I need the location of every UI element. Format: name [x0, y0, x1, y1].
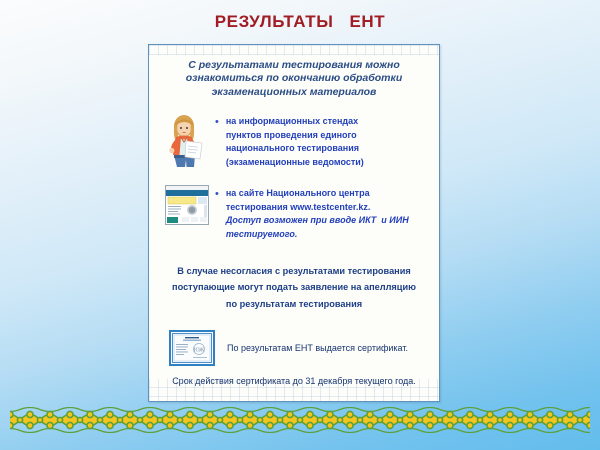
bullet-2-italic-line-2: тестируемого.: [226, 228, 409, 242]
bullet-item-website: • на сайте Национального центра тестиров…: [159, 183, 429, 241]
testcenter-website-thumbnail: [165, 185, 209, 225]
certificate-caption: По результатам ЕНТ выдается сертификат.: [227, 343, 408, 353]
page-title: РЕЗУЛЬТАТЫ ЕНТ: [0, 12, 600, 32]
bullet-1-line-2: пунктов проведения единого: [226, 129, 364, 143]
certificate-validity-text: Срок действия сертификата до 31 декабря …: [159, 376, 429, 386]
intro-line-1: С результатами тестирования можно: [188, 59, 400, 71]
bullet-2-body: на сайте Национального центра тестирован…: [226, 187, 409, 241]
bullet-1-text: • на информационных стендах пунктов пров…: [215, 111, 429, 169]
bullet-1-line-1: на информационных стендах: [226, 115, 364, 129]
svg-text:ЮЖ: ЮЖ: [193, 347, 205, 353]
bullet-2-italic-line-1: Доступ возможен при вводе ИКТ и ИИН: [226, 214, 409, 228]
intro-heading: С результатами тестирования можно ознако…: [159, 59, 429, 99]
bullet-2-line-1: на сайте Национального центра: [226, 187, 409, 201]
bullet-2-thumb-column: [159, 183, 215, 225]
bullet-1-line-4: (экзаменационные ведомости): [226, 156, 364, 170]
bullet-1-thumb-column: [159, 111, 215, 175]
bullet-marker-icon: •: [215, 187, 219, 241]
certificate-row: ЮЖ По результатам ЕНТ выдается сертифика…: [159, 330, 429, 366]
appeal-line-2: поступающие могут подать заявление на ап…: [165, 279, 423, 295]
intro-line-2: ознакомиться по окончанию обработки: [186, 72, 403, 84]
appeal-line-1: В случае несогласия с результатами тести…: [165, 263, 423, 279]
certificate-thumbnail: ЮЖ: [169, 330, 215, 366]
bullet-2-line-2: тестирования www.testcenter.kz.: [226, 201, 409, 215]
bullet-1-body: на информационных стендах пунктов провед…: [226, 115, 364, 169]
bullet-item-info-stands: • на информационных стендах пунктов пров…: [159, 111, 429, 175]
bullet-1-line-3: национального тестирования: [226, 142, 364, 156]
content-panel: С результатами тестирования можно ознако…: [148, 44, 440, 402]
kazakh-ornament-border: [0, 407, 600, 433]
appeal-line-3: по результатам тестирования: [165, 296, 423, 312]
appeal-paragraph: В случае несогласия с результатами тести…: [159, 263, 429, 311]
student-reading-illustration: [166, 113, 208, 175]
intro-line-3: экзаменационных материалов: [212, 86, 377, 98]
bullet-marker-icon: •: [215, 115, 219, 169]
bullet-2-text: • на сайте Национального центра тестиров…: [215, 183, 429, 241]
